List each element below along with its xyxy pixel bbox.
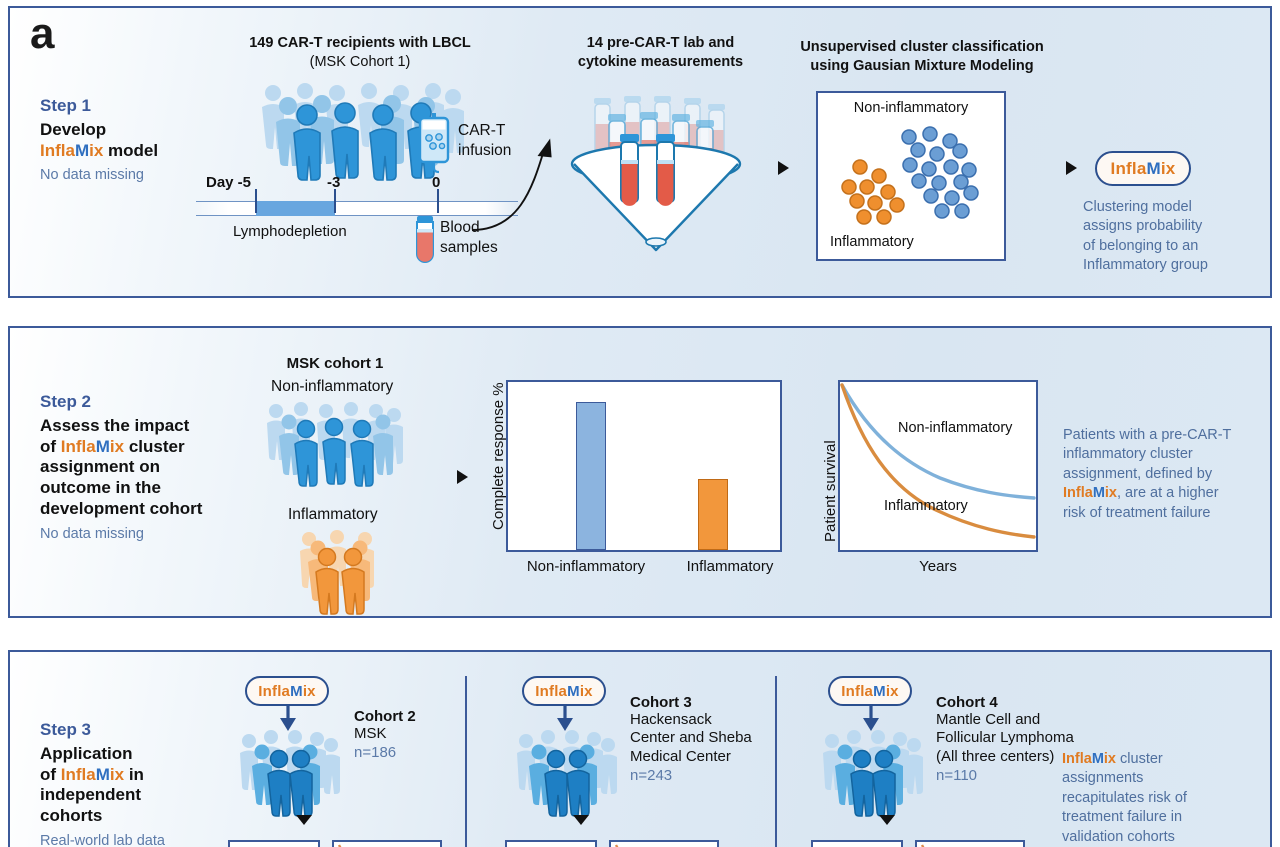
step-2-note-line-2: inflammatory cluster — [1063, 445, 1273, 464]
step-2-note-line-4-tail: , are at a higher — [1117, 485, 1219, 501]
cohort-2-line-1: MSK — [354, 725, 464, 743]
inflamix-pill-cohort-4: InflaMix — [828, 676, 912, 706]
step-3-note: InflaMix cluster assignments recapitulat… — [1062, 750, 1262, 847]
step-1-title: Develop InflaMix model — [40, 120, 240, 161]
panel-step-2: Step 2 Assess the impact of InflaMix clu… — [8, 326, 1272, 618]
cohort-2-n: n=186 — [354, 744, 464, 761]
step-3-text-block: Step 3 Application of InflaMix in indepe… — [40, 720, 240, 847]
pill-ix-text: ix — [580, 683, 593, 700]
inflamix-infla: Infla — [61, 765, 96, 784]
pill-m-text: M — [1147, 159, 1161, 179]
cohort-3-text: Cohort 3 Hackensack Center and Sheba Med… — [630, 694, 780, 784]
step-1-title-line-1: Develop — [40, 120, 240, 141]
step-2-note-line-1: Patients with a pre-CAR-T — [1063, 426, 1273, 445]
inflamix-m: M — [75, 141, 89, 160]
arrow-to-cluster-plot — [778, 161, 789, 175]
timeline-tick-day-0 — [437, 189, 439, 213]
panel-letter: a — [30, 12, 54, 56]
cohort-3-line-2: Center and Sheba — [630, 729, 780, 747]
step-3-subtitle: Real-world lab data — [40, 832, 240, 847]
lab-heading-line-1: 14 pre-CAR-T lab and — [558, 34, 763, 53]
pill-m-text: M — [567, 683, 580, 700]
inflamix-pill-step1: InflaMix — [1095, 151, 1191, 186]
cohort-4-line-2: Follicular Lymphoma — [936, 729, 1106, 747]
inflamix-infla: Infla — [61, 437, 96, 456]
inflamix-infla: Infla — [1062, 751, 1092, 767]
step-1-label: Step 1 — [40, 96, 240, 116]
step-3-title-pre: of — [40, 765, 61, 784]
cohort-4-result-box-1 — [811, 840, 903, 847]
cluster-heading-line-2: using Gausian Mixture Modeling — [772, 57, 1072, 76]
inflamix-ix: ix — [110, 765, 124, 784]
pill-infla-text: Infla — [841, 683, 873, 700]
cohort-heading: 149 CAR-T recipients with LBCL — [200, 34, 520, 53]
inflamix-m: M — [1093, 485, 1105, 501]
pill-ix-text: ix — [1161, 159, 1176, 179]
panel-step-3: Step 3 Application of InflaMix in indepe… — [8, 650, 1272, 847]
group-label-non-inflammatory: Non-inflammatory — [271, 378, 393, 396]
cohort-3-title: Cohort 3 — [630, 694, 780, 711]
timeline-lymphodepletion-band — [256, 201, 335, 216]
step-2-note-line-4: InflaMix, are at a higher — [1063, 484, 1273, 503]
step-2-note-line-3: assignment, defined by — [1063, 465, 1273, 484]
cohort-2-title: Cohort 2 — [354, 708, 464, 725]
bar-chart-x-tick-non-inflammatory: Non-inflammatory — [506, 558, 666, 575]
timeline-tick-day-minus-3 — [334, 189, 336, 213]
cohort-3-down-arrow — [573, 815, 589, 825]
timeline-label-day-0: 0 — [432, 174, 440, 191]
step-2-title-line-5: development cohort — [40, 499, 250, 520]
panel-step-1: a Step 1 Develop InflaMix model No data … — [8, 6, 1272, 298]
km-x-axis-label: Years — [838, 558, 1038, 575]
timeline-label-day-minus-5: Day -5 — [206, 174, 251, 191]
inflammatory-crowd-icon — [298, 528, 384, 610]
step-3-note-line-3: recapitulates risk of — [1062, 789, 1262, 808]
inflamix-infla: Infla — [1063, 485, 1093, 501]
infusion-bag-icon — [416, 113, 452, 175]
bar-non-inflammatory — [576, 402, 606, 550]
step-1-note: Clustering model assigns probability of … — [1083, 198, 1263, 276]
cohort-3-result-box-1 — [505, 840, 597, 847]
cohort-subheading: (MSK Cohort 1) — [200, 53, 520, 72]
figure-root: a Step 1 Develop InflaMix model No data … — [0, 0, 1280, 847]
inflamix-pill-cohort-3: InflaMix — [522, 676, 606, 706]
km-curves — [840, 382, 1036, 550]
step-2-note: Patients with a pre-CAR-T inflammatory c… — [1063, 426, 1273, 523]
step-1-note-line-3: of belonging to an — [1083, 237, 1263, 256]
cohort-4-down-arrow — [879, 815, 895, 825]
scatter-points — [818, 93, 1004, 259]
step-3-title: Application of InflaMix in independent c… — [40, 744, 240, 827]
cluster-heading-line-1: Unsupervised cluster classification — [772, 38, 1072, 57]
step-1-title-tail: model — [103, 141, 158, 160]
step-1-note-line-4: Inflammatory group — [1083, 256, 1263, 275]
step-2-text-block: Step 2 Assess the impact of InflaMix clu… — [40, 392, 250, 543]
inflamix-pill-cohort-2: InflaMix — [245, 676, 329, 706]
bar-chart-plot — [506, 380, 782, 552]
step-1-note-line-2: assigns probability — [1083, 217, 1263, 236]
cohort-2-crowd-icon — [238, 728, 342, 810]
step-3-note-line-1-tail: cluster — [1116, 751, 1163, 767]
inflamix-ix: ix — [1105, 485, 1117, 501]
pill-ix-text: ix — [886, 683, 899, 700]
step-3-title-line-1: Application — [40, 744, 240, 765]
non-inflammatory-crowd-icon — [265, 400, 405, 482]
step-2-subtitle: No data missing — [40, 525, 250, 543]
inflamix-infla: Infla — [40, 141, 75, 160]
cohort-3-n: n=243 — [630, 767, 780, 784]
step-3-title-line-4: cohorts — [40, 806, 240, 827]
cohort-4-title: Cohort 4 — [936, 694, 1106, 711]
step-2-title: Assess the impact of InflaMix cluster as… — [40, 416, 250, 520]
step-2-title-line-3: assignment on — [40, 457, 250, 478]
inflamix-m: M — [96, 765, 110, 784]
km-label-non-inflammatory: Non-inflammatory — [898, 420, 1012, 436]
cluster-scatter-plot: Non-inflammatory Inflammatory — [816, 91, 1006, 261]
step-2-cohort-heading: MSK cohort 1 — [225, 354, 445, 374]
vials-funnel-icon — [568, 90, 744, 265]
pill-infla-text: Infla — [535, 683, 567, 700]
cohort-3-line-3: Medical Center — [630, 748, 780, 766]
inflamix-ix: ix — [89, 141, 103, 160]
cluster-heading-group: Unsupervised cluster classification usin… — [772, 38, 1072, 76]
timeline-label-day-minus-3: -3 — [327, 174, 340, 191]
blood-tube-icon — [414, 216, 436, 264]
inflamix-m: M — [96, 437, 110, 456]
pill-m-text: M — [873, 683, 886, 700]
blood-label-line-2: samples — [440, 239, 498, 257]
group-label-inflammatory: Inflammatory — [288, 506, 378, 524]
step-2-label: Step 2 — [40, 392, 250, 412]
step-3-note-line-2: assignments — [1062, 769, 1262, 788]
step-3-title-post: in — [124, 765, 144, 784]
step-2-title-pre: of — [40, 437, 61, 456]
cohort-3-result-box-2 — [609, 840, 719, 847]
inflamix-m: M — [1092, 751, 1104, 767]
km-label-inflammatory: Inflammatory — [884, 498, 968, 514]
step-2-note-line-5: risk of treatment failure — [1063, 504, 1273, 523]
lab-heading-group: 14 pre-CAR-T lab and cytokine measuremen… — [558, 34, 763, 72]
km-y-axis-label: Patient survival — [822, 392, 839, 542]
step-2-title-line-2: of InflaMix cluster — [40, 437, 250, 458]
cohort-4-result-box-2 — [915, 840, 1025, 847]
cohort-2-result-box-1 — [228, 840, 320, 847]
bar-chart-x-tick-inflammatory: Inflammatory — [650, 558, 810, 575]
step-3-title-line-2: of InflaMix in — [40, 765, 240, 786]
step-3-note-line-5: validation cohorts — [1062, 828, 1262, 847]
cohort-2-down-arrow — [296, 815, 312, 825]
pill-infla-text: Infla — [1111, 159, 1147, 179]
pill-infla-text: Infla — [258, 683, 290, 700]
cohort-3-line-1: Hackensack — [630, 711, 780, 729]
cohort-2-result-box-2 — [332, 840, 442, 847]
pill-ix-text: ix — [303, 683, 316, 700]
inflamix-ix: ix — [110, 437, 124, 456]
cohort-2-text: Cohort 2 MSK n=186 — [354, 708, 464, 761]
inflamix-ix: ix — [1104, 751, 1116, 767]
step-1-note-line-1: Clustering model — [1083, 198, 1263, 217]
cohort-heading-group: 149 CAR-T recipients with LBCL (MSK Coho… — [200, 34, 520, 72]
step-3-label: Step 3 — [40, 720, 240, 740]
step-3-note-line-1: InflaMix cluster — [1062, 750, 1262, 769]
step-1-title-line-2: InflaMix model — [40, 141, 240, 162]
timeline-tick-day-minus-5 — [255, 189, 257, 213]
arrow-to-bar-chart — [457, 470, 468, 484]
step-3-title-line-3: independent — [40, 785, 240, 806]
lab-heading-line-2: cytokine measurements — [558, 53, 763, 72]
step-2-title-post: cluster — [124, 437, 184, 456]
km-survival-plot: Non-inflammatory Inflammatory — [838, 380, 1038, 552]
bar-inflammatory — [698, 479, 728, 550]
bar-chart-y-axis-label: Complete response % — [490, 380, 507, 530]
cohort-4-line-1: Mantle Cell and — [936, 711, 1106, 729]
pill-m-text: M — [290, 683, 303, 700]
timeline-caption-lymphodepletion: Lymphodepletion — [233, 223, 347, 240]
column-divider-1 — [465, 676, 467, 847]
cohort-4-crowd-icon — [821, 728, 925, 810]
step-1-text-block: Step 1 Develop InflaMix model No data mi… — [40, 96, 240, 185]
step-3-note-line-4: treatment failure in — [1062, 808, 1262, 827]
arrow-to-inflamix-pill — [1066, 161, 1077, 175]
step-2-title-line-1: Assess the impact — [40, 416, 250, 437]
step-2-title-line-4: outcome in the — [40, 478, 250, 499]
cohort-3-crowd-icon — [515, 728, 619, 810]
